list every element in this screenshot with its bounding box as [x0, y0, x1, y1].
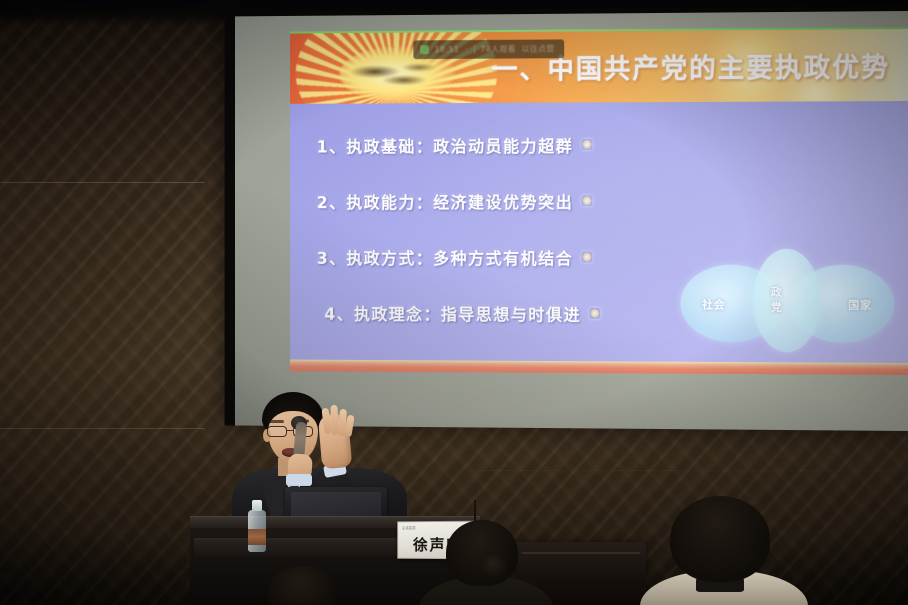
diamond-marker-icon — [582, 139, 593, 150]
venn-label-middle-line1: 政 — [771, 286, 783, 299]
venn-label-right: 国家 — [848, 297, 872, 313]
slide-bottom-accent-band — [290, 360, 908, 375]
bullet-text: 2、执政能力：经济建设优势突出 — [317, 189, 574, 213]
audience-member — [648, 496, 798, 605]
wall-panel-seam — [0, 428, 205, 429]
venn-label-middle: 政党 — [771, 285, 783, 315]
venn-diagram: 社会 政党 国家 — [680, 249, 894, 353]
presentation-slide: 一、中国共产党的主要执政优势 1、执政基础：政治动员能力超群 2、执政能力：经济… — [290, 27, 908, 375]
audience-hair-bun — [482, 554, 508, 580]
speaker-finger — [330, 405, 338, 435]
overlay-divider — [474, 45, 475, 54]
speaker-shirt-cuff-left — [286, 474, 312, 486]
wall-panel-seam — [470, 470, 908, 471]
bottle-label — [248, 529, 266, 545]
audience-head — [268, 566, 338, 605]
projection-screen-surface: 一、中国共产党的主要执政优势 1、执政基础：政治动员能力超群 2、执政能力：经济… — [235, 11, 908, 431]
chair-rail — [522, 552, 640, 554]
stream-status-overlay: 18:51 · 78人观看 以往点赞 — [413, 39, 564, 59]
venn-lobe-middle — [753, 249, 820, 353]
projection-screen-frame: 一、中国共产党的主要执政优势 1、执政基础：政治动员能力超群 2、执政能力：经济… — [225, 6, 908, 431]
slide-body: 1、执政基础：政治动员能力超群 2、执政能力：经济建设优势突出 3、执政方式：多… — [290, 101, 908, 363]
bullet-text: 4、执政理念：指导思想与时俱进 — [324, 301, 581, 326]
diamond-marker-icon — [582, 252, 593, 263]
stream-viewers: 78人观看 — [480, 44, 515, 55]
audience-member — [258, 566, 354, 605]
nameplate-micro-left: 主讲嘉宾 — [402, 525, 416, 532]
sunburst-silhouette-icon — [347, 58, 439, 92]
venn-label-left: 社会 — [702, 296, 726, 312]
stream-detail: 以往点赞 — [522, 43, 555, 54]
speaker-eyebrow-left — [268, 420, 284, 423]
bullet-text: 3、执政方式：多种方式有机结合 — [317, 245, 574, 269]
venn-label-middle-line2: 党 — [771, 301, 783, 314]
water-bottle — [248, 500, 266, 552]
list-item: 1、执政基础：政治动员能力超群 — [317, 115, 884, 173]
bottle-cap — [252, 500, 262, 511]
signal-icon — [420, 45, 429, 54]
diamond-marker-icon — [582, 195, 593, 206]
audience-head — [670, 496, 770, 582]
laptop-screen — [291, 492, 381, 519]
diamond-marker-icon — [590, 308, 601, 319]
slide-title-band: 一、中国共产党的主要执政优势 — [290, 29, 908, 104]
audience-head — [446, 520, 518, 586]
stream-time: 18:51 — [435, 45, 460, 54]
audience-member — [430, 520, 538, 605]
stream-separator: · — [465, 45, 468, 54]
glasses-bridge — [287, 430, 293, 431]
bullet-text: 1、执政基础：政治动员能力超群 — [317, 133, 574, 157]
wall-panel-seam — [0, 182, 205, 183]
glasses-lens-left — [267, 426, 287, 437]
list-item: 2、执政能力：经济建设优势突出 — [317, 172, 884, 229]
lecture-hall-screenshot: 一、中国共产党的主要执政优势 1、执政基础：政治动员能力超群 2、执政能力：经济… — [0, 0, 908, 605]
